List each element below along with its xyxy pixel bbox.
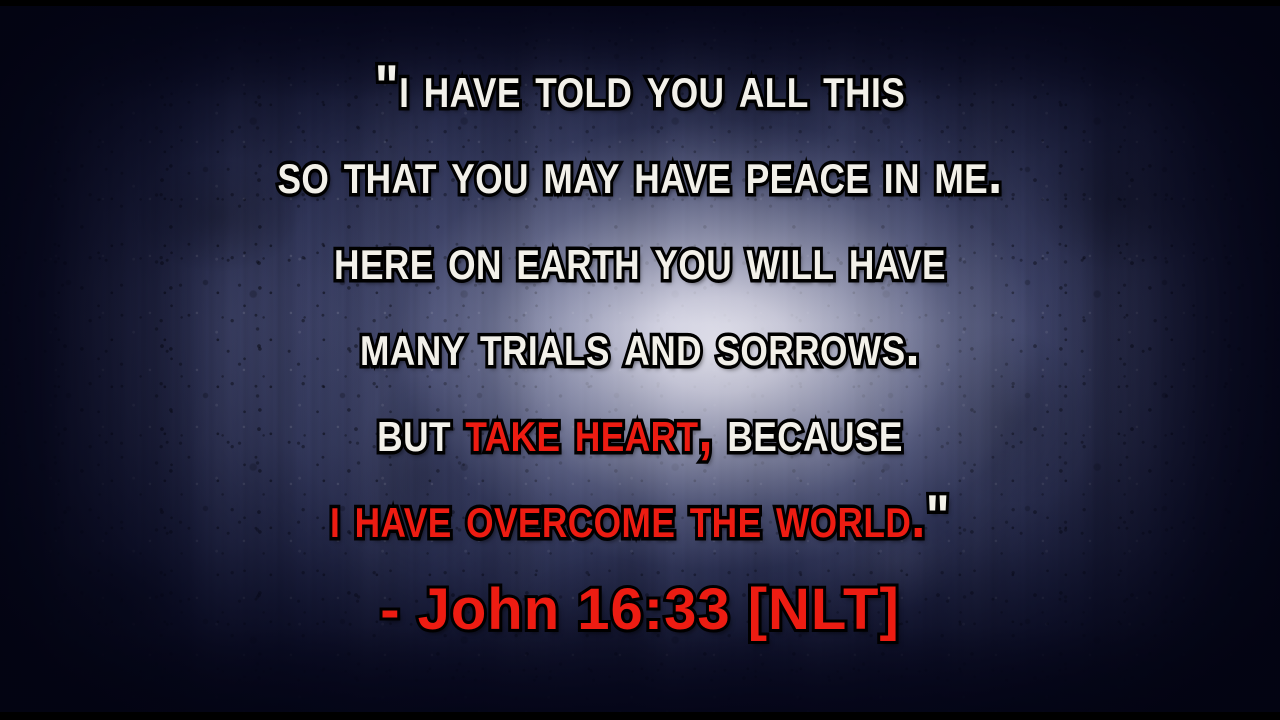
verse-segment: so that you may have peace in Me. (277, 139, 1002, 206)
verse-line-3: Here on earth you will have (102, 216, 1177, 302)
letterbox-bar-top (0, 0, 1280, 6)
verse-line-2: so that you may have peace in Me. (102, 130, 1177, 216)
verse-text-block: "I have told you all this so that you ma… (0, 0, 1280, 720)
verse-segment-highlight: take heart, (465, 397, 713, 464)
verse-segment: many trials and sorrows. (360, 311, 920, 378)
verse-line-1: "I have told you all this (102, 44, 1177, 130)
verse-segment: But (377, 397, 465, 464)
verse-segment: "I have told you all this (375, 53, 905, 120)
verse-image-canvas: "I have told you all this so that you ma… (0, 0, 1280, 720)
verse-segment: because (713, 397, 903, 464)
letterbox-bar-bottom (0, 712, 1280, 720)
verse-segment-closing-quote: " (926, 483, 950, 550)
verse-reference: - John 16:33 [NLT] (0, 568, 1280, 652)
verse-line-5: But take heart, because (102, 388, 1177, 474)
verse-segment-highlight: I have overcome the world. (330, 483, 926, 550)
verse-line-6: I have overcome the world." (102, 474, 1177, 560)
verse-segment: Here on earth you will have (334, 225, 946, 292)
verse-line-4: many trials and sorrows. (102, 302, 1177, 388)
